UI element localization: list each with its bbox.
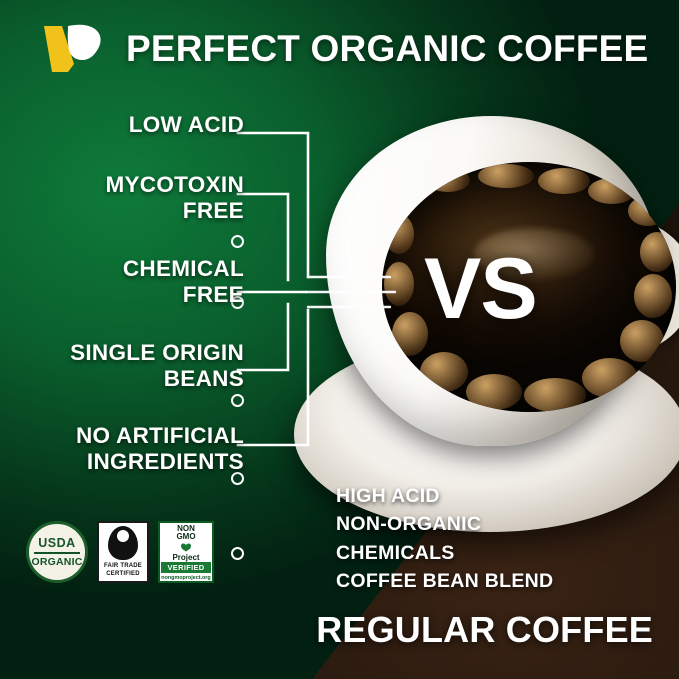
vs-label: VS [424,240,537,339]
nongmo-line3: Project [172,554,199,562]
certification-badges: USDA ORGANIC FAIR TRADE CERTIFIED NON GM… [26,521,214,583]
fair-trade-certified-seal: FAIR TRADE CERTIFIED [97,521,149,583]
nongmo-verified: VERIFIED [161,562,211,573]
fairtrade-line1: FAIR TRADE [104,563,142,571]
usda-divider [34,552,80,554]
nongmo-line2: GMO [176,533,195,541]
page-title: PERFECT ORGANIC COFFEE [126,28,648,70]
benefit-line: MYCOTOXIN [105,172,244,198]
benefit-item: CHEMICAL FREE [123,256,244,308]
benefit-line: SINGLE ORIGIN [70,340,244,366]
benefit-item: LOW ACID [129,112,244,138]
benefit-item: MYCOTOXIN FREE [105,172,244,224]
benefit-line: BEANS [70,366,244,392]
usda-organic-seal: USDA ORGANIC [26,521,88,583]
leaf-drop-logo-icon [38,20,112,78]
fair-trade-person-icon [108,526,138,560]
regular-coffee-title: REGULAR COFFEE [316,609,653,651]
non-gmo-project-verified-seal: NON GMO Project VERIFIED nongmoproject.o… [158,521,214,583]
benefit-dot [231,547,244,560]
fairtrade-line2: CERTIFIED [104,571,142,579]
benefit-line: NO ARTIFICIAL [76,423,244,449]
benefit-line: FREE [105,198,244,224]
drawback-item: HIGH ACID [336,482,553,510]
usda-line2: ORGANIC [32,557,83,568]
benefit-line: FREE [123,282,244,308]
benefit-line: INGREDIENTS [76,449,244,475]
drawback-item: NON-ORGANIC [336,510,553,538]
usda-line1: USDA [38,537,75,550]
benefit-line: LOW ACID [129,112,244,138]
drawback-item: CHEMICALS [336,539,553,567]
poster-header: PERFECT ORGANIC COFFEE [0,20,679,78]
benefit-line: CHEMICAL [123,256,244,282]
butterfly-icon [176,543,196,553]
product-comparison-poster: PERFECT ORGANIC COFFEE LOW ACID MYCOTOXI… [0,0,679,679]
benefit-dot [231,235,244,248]
benefit-dot [231,394,244,407]
nongmo-url: nongmoproject.org [161,575,210,581]
drawback-item: COFFEE BEAN BLEND [336,567,553,595]
benefit-item: NO ARTIFICIAL INGREDIENTS [76,423,244,475]
drawbacks-list: HIGH ACID NON-ORGANIC CHEMICALS COFFEE B… [336,482,553,595]
benefit-item: SINGLE ORIGIN BEANS [70,340,244,392]
